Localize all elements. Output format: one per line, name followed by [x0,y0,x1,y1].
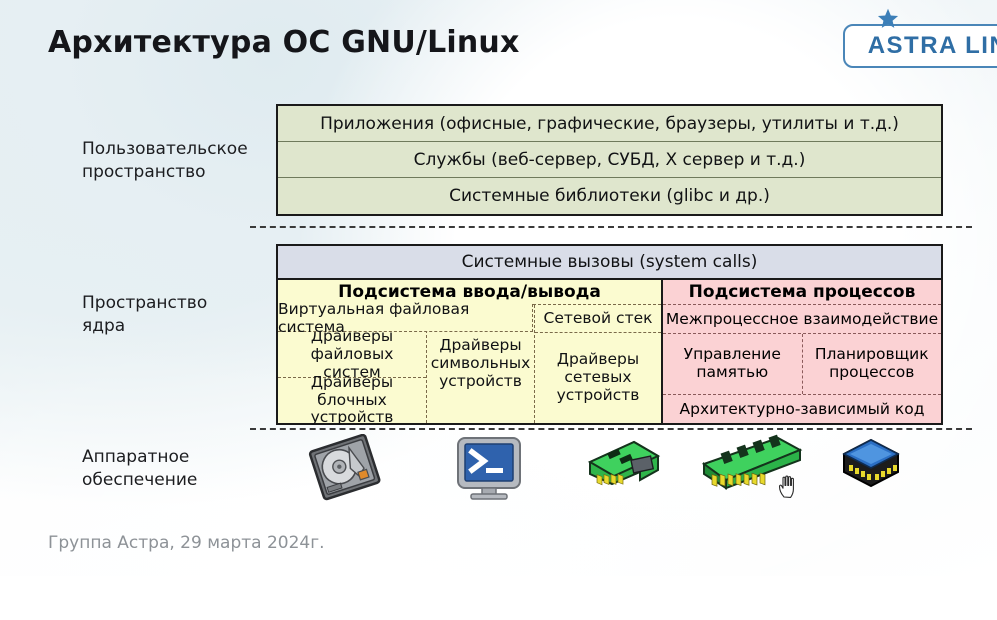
footer-text: Группа Астра, 29 марта 2024г. [48,533,325,553]
process-ipc: Межпроцессное взаимодействие [663,305,941,334]
user-space-system-libraries: Системные библиотеки (glibc и др.) [278,178,941,214]
zone-label-user-space: Пользовательское пространство [82,138,248,184]
zone-label-kernel-line2: ядра [82,315,207,338]
io-char-device-drivers-line2: символьных [431,354,531,372]
hand-cursor [777,474,799,500]
io-virtual-file-system: Виртуальная файловая система [278,304,533,332]
io-network-stack: Сетевой стек [535,305,661,333]
io-filesystem-drivers: Драйверы файловых систем [278,333,426,378]
io-network-device-drivers-line1: Драйверы [557,350,639,368]
divider-user-kernel [250,226,972,228]
user-space-services: Службы (веб-сервер, СУБД, X сервер и т.д… [278,142,941,178]
zone-label-user-line2: пространство [82,161,248,184]
process-scheduler-line2: процессов [829,363,914,381]
star-icon [875,7,901,33]
logo-text: ASTRA LIN [868,32,997,60]
kernel-subsystems: Подсистема ввода/вывода Виртуальная файл… [278,280,941,423]
io-network-device-drivers-line2: сетевых [564,368,631,386]
divider-kernel-hardware [250,428,972,430]
io-network-device-drivers-line3: устройств [557,386,640,404]
zone-label-kernel-space: Пространство ядра [82,292,207,338]
io-block-device-drivers-line2: устройств [311,408,394,426]
user-space-applications: Приложения (офисные, графические, браузе… [278,106,941,142]
zone-label-hardware-line2: обеспечение [82,469,197,492]
zone-label-hardware: Аппаратное обеспечение [82,446,197,492]
kernel-space-stack: Системные вызовы (system calls) Подсисте… [276,244,943,425]
zone-label-kernel-line1: Пространство [82,292,207,315]
hardware-icon-row [276,434,943,506]
process-subsystem-middle-row: Управление памятью Планировщик процессов [663,334,941,395]
io-block-device-drivers: Драйверы блочных устройств [278,378,426,423]
io-char-device-drivers-line3: устройств [439,372,522,390]
process-subsystem: Подсистема процессов Межпроцессное взаим… [663,280,941,423]
user-space-stack: Приложения (офисные, графические, браузе… [276,104,943,216]
process-subsystem-title: Подсистема процессов [663,280,941,305]
process-scheduler: Планировщик процессов [803,334,942,394]
monitor-terminal-icon [454,434,524,502]
io-column-network: Сетевой стек Драйверы сетевых устройств [535,305,661,423]
zone-label-user-line1: Пользовательское [82,138,248,161]
process-memory-management: Управление памятью [663,334,803,394]
process-arch-dependent-code: Архитектурно-зависимый код [663,395,941,423]
zone-label-hardware-line1: Аппаратное [82,446,197,469]
cpu-chip-icon [838,434,904,496]
io-network-device-drivers: Драйверы сетевых устройств [535,333,661,423]
page-title: Архитектура ОС GNU/Linux [48,25,520,60]
io-block-device-drivers-line1: Драйверы блочных [311,373,393,409]
process-scheduler-line1: Планировщик [815,345,929,363]
io-subsystem: Подсистема ввода/вывода Виртуальная файл… [278,280,663,423]
astra-linux-logo: ASTRA LIN [843,24,997,68]
io-char-device-drivers-line1: Драйверы [439,336,521,354]
hard-disk-icon [306,434,384,502]
system-calls-bar: Системные вызовы (system calls) [278,246,941,280]
process-memory-management-line2: памятью [696,363,768,381]
process-memory-management-line1: Управление [684,345,781,363]
network-card-icon [578,434,664,496]
